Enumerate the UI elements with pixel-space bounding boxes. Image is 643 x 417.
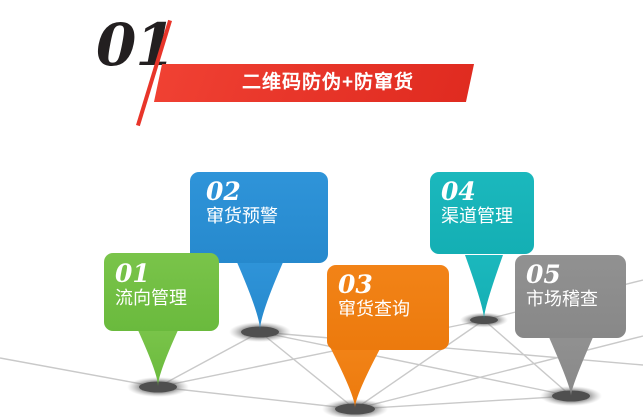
- pin-04-body: [430, 172, 534, 254]
- pin-02-body: [190, 172, 328, 263]
- slide-header: 01 二维码防伪+防窜货: [0, 0, 643, 140]
- pin-02-tail: [236, 260, 284, 330]
- pin-network-diagram: 01 流向管理 02 窜货预警 03 窜货查询 04 渠道管理 05 市场稽查: [0, 140, 643, 417]
- pin-03-body: [327, 265, 449, 350]
- slide-canvas: 01 二维码防伪+防窜货: [0, 0, 643, 417]
- pin-05-body: [515, 255, 626, 338]
- pin-01-tail: [137, 328, 179, 386]
- pin-network-svg: [0, 140, 643, 417]
- pin-01-body: [104, 253, 219, 331]
- pin-05-tail: [548, 335, 594, 396]
- title-banner-text: 二维码防伪+防窜货: [188, 69, 468, 97]
- pin-04-tail: [465, 255, 503, 319]
- pin-05[interactable]: [515, 255, 626, 396]
- pin-03-tail: [330, 347, 381, 408]
- pin-01[interactable]: [104, 253, 219, 386]
